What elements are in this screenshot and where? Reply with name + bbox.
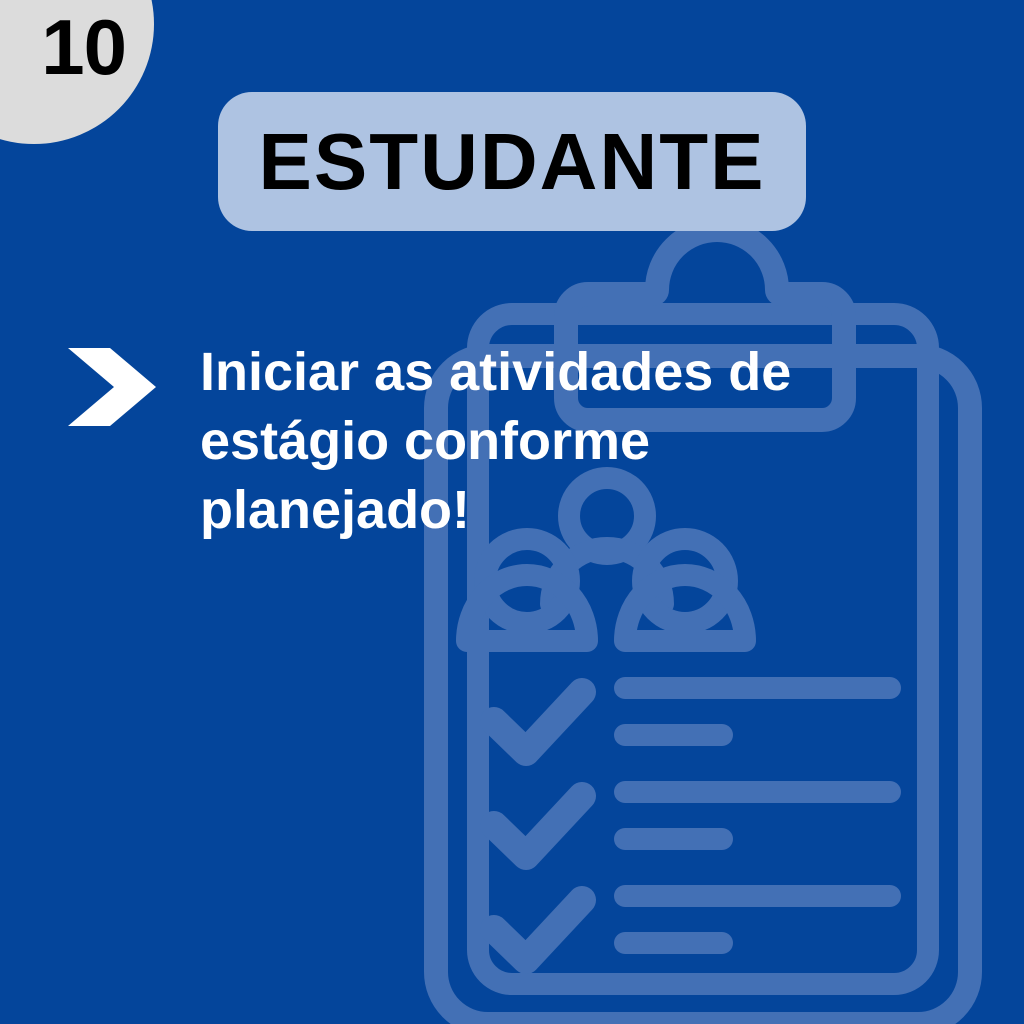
slide-canvas: 10 ESTUDANTE Iniciar as atividades de es… [0,0,1024,1024]
checklist-item-1 [494,688,890,752]
page-title: ESTUDANTE [259,122,766,202]
bullet-text: Iniciar as atividades de estágio conform… [200,338,920,545]
bullet-row: Iniciar as atividades de estágio conform… [64,338,944,545]
checklist-item-3 [494,896,890,960]
checklist-item-2 [494,792,890,856]
step-number-badge: 10 [0,0,154,144]
chevron-right-icon [64,346,160,428]
step-number-value: 10 [41,8,126,86]
title-pill: ESTUDANTE [218,92,806,231]
